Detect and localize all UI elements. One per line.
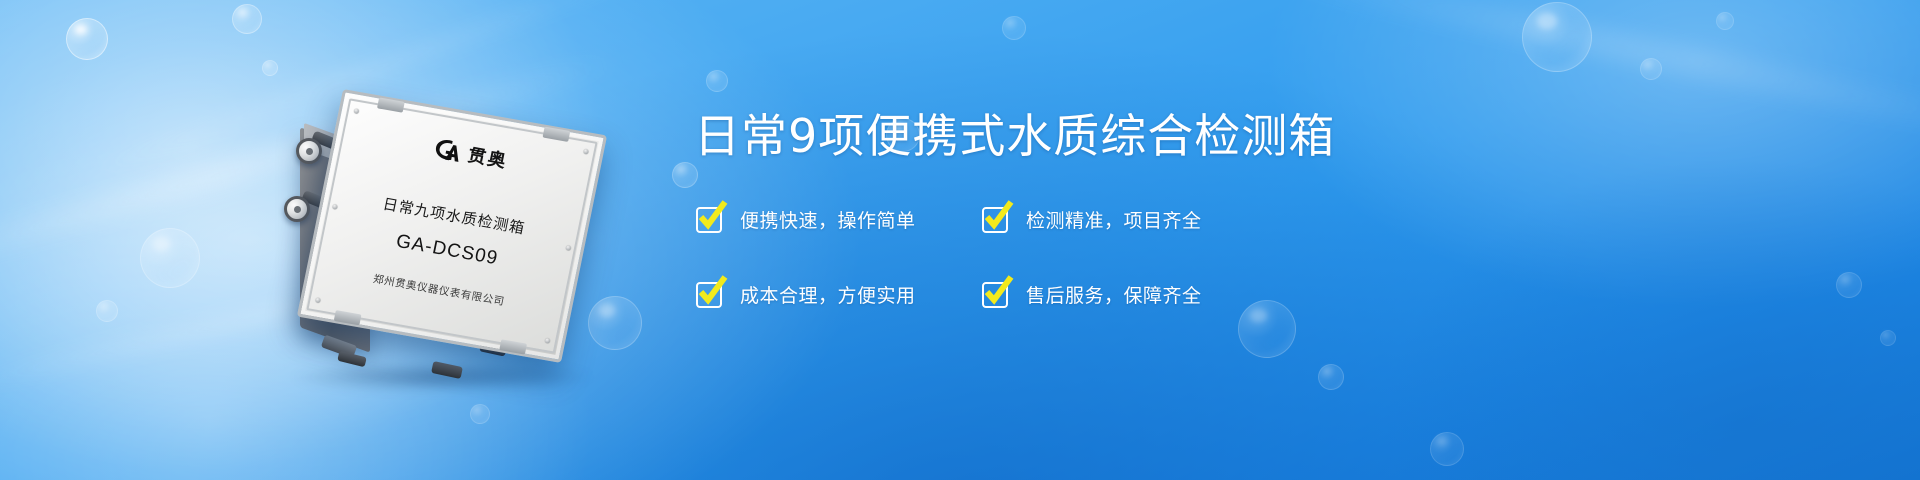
feature-label: 检测精准，项目齐全 — [1026, 206, 1202, 233]
product-banner: 贯奥 日常九项水质检测箱 GA-DCS09 郑州贯奥仪器仪表有限公司 日常9项便… — [0, 0, 1920, 480]
check-box-icon — [982, 282, 1008, 308]
feature-item: 检测精准，项目齐全 — [982, 206, 1202, 233]
wheel — [284, 196, 310, 222]
case-latch — [337, 351, 367, 367]
brand-name: 贯奥 — [466, 141, 511, 173]
decorative-bubble — [96, 300, 118, 322]
product-model-code: GA-DCS09 — [394, 231, 500, 270]
case-lid-face: 贯奥 日常九项水质检测箱 GA-DCS09 郑州贯奥仪器仪表有限公司 — [297, 89, 607, 363]
feature-item: 便携快速，操作简单 — [696, 206, 982, 233]
check-box-icon — [982, 207, 1008, 233]
case-latch — [431, 361, 463, 379]
feature-list: 便携快速，操作简单 检测精准，项目齐全 成本合理，方便实用 售后服务，保障齐全 — [696, 206, 1202, 308]
decorative-bubble — [470, 404, 490, 424]
case-body: 贯奥 日常九项水质检测箱 GA-DCS09 郑州贯奥仪器仪表有限公司 — [282, 92, 612, 382]
product-image: 贯奥 日常九项水质检测箱 GA-DCS09 郑州贯奥仪器仪表有限公司 — [282, 92, 612, 382]
feature-label: 便携快速，操作简单 — [740, 206, 916, 233]
feature-label: 成本合理，方便实用 — [740, 281, 916, 308]
manufacturer-name: 郑州贯奥仪器仪表有限公司 — [372, 271, 506, 309]
wheel — [296, 138, 322, 164]
feature-item: 售后服务，保障齐全 — [982, 281, 1202, 308]
decorative-bubble — [262, 60, 278, 76]
decorative-bubble — [66, 18, 108, 60]
check-box-icon — [696, 282, 722, 308]
decorative-bubble — [232, 4, 262, 34]
case-label-block: 贯奥 日常九项水质检测箱 GA-DCS09 郑州贯奥仪器仪表有限公司 — [300, 93, 603, 360]
ga-logo-icon — [429, 135, 464, 166]
banner-content: 日常9项便携式水质综合检测箱 便携快速，操作简单 检测精准，项目齐全 成本合理，… — [694, 0, 1874, 480]
check-box-icon — [696, 207, 722, 233]
banner-headline: 日常9项便携式水质综合检测箱 — [694, 113, 1335, 159]
feature-item: 成本合理，方便实用 — [696, 281, 982, 308]
feature-label: 售后服务，保障齐全 — [1026, 281, 1202, 308]
decorative-bubble — [140, 228, 200, 288]
decorative-bubble — [1880, 330, 1896, 346]
brand-lockup: 贯奥 — [429, 135, 510, 174]
